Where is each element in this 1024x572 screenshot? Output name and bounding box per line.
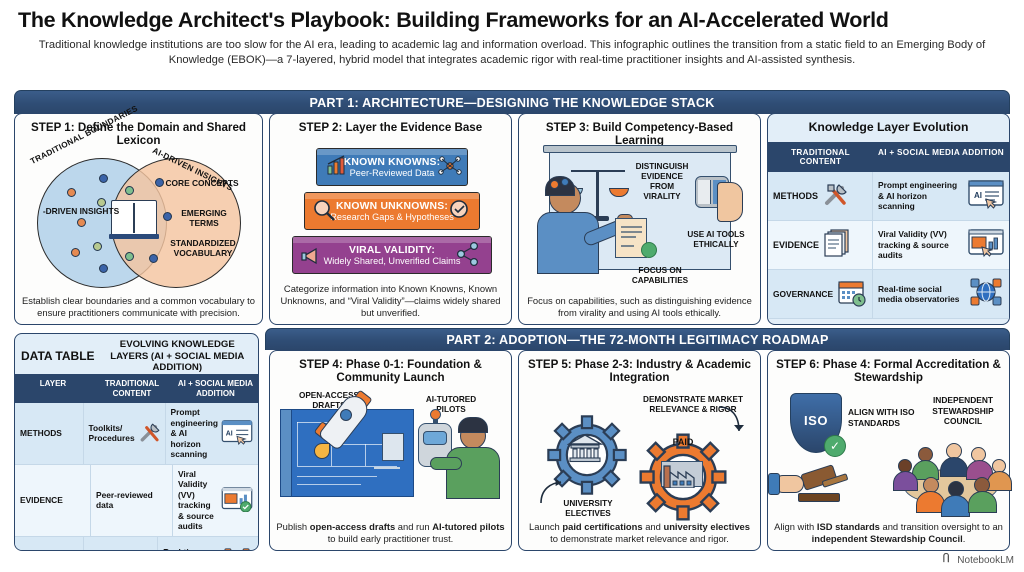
venn-text-core-concepts: CORE CONCEPTS xyxy=(165,178,239,188)
network-node-icon xyxy=(71,248,80,257)
kle-cell-layer: METHODS xyxy=(768,172,873,220)
part1-header: PART 1: ARCHITECTURE—DESIGNING THE KNOWL… xyxy=(14,90,1010,114)
panel-step-6: STEP 6: Phase 4: Formal Accreditation & … xyxy=(767,350,1010,551)
step-4-caption: Publish open-access drafts and run AI-tu… xyxy=(276,521,505,545)
step-4-label-ai-tutored-pilots: AI-TUTORED PILOTS xyxy=(410,395,492,415)
page-title: The Knowledge Architect's Playbook: Buil… xyxy=(18,8,1006,33)
dt-cell-traditional: Periodic reviews xyxy=(84,537,158,552)
dt-cell-layer: EVIDENCE xyxy=(15,465,91,536)
caption-part: . xyxy=(963,533,966,544)
caption-part-bold: open-access drafts xyxy=(310,521,395,532)
council-member-body xyxy=(940,457,968,477)
kle-title: Knowledge Layer Evolution xyxy=(768,120,1009,134)
notebooklm-icon xyxy=(942,553,953,567)
browser-ai-cursor-icon: AI xyxy=(221,419,253,448)
robot-antenna-ball-icon xyxy=(430,409,441,420)
kle-cell-ai: Viral Validity (VV) tracking & source au… xyxy=(873,221,1009,269)
layer-desc: Widely Shared, Unverified Claims xyxy=(324,256,461,266)
wrench-screwdriver-icon xyxy=(138,419,164,448)
book-base-icon xyxy=(109,234,159,239)
council-member-body xyxy=(893,471,918,491)
check-badge-icon: ✓ xyxy=(824,435,846,457)
data-table-header-row: LAYER TRADITIONAL CONTENT AI + SOCIAL ME… xyxy=(15,374,258,403)
share-icon xyxy=(456,242,480,266)
step-6-caption: Align with ISD standards and transition … xyxy=(774,521,1003,545)
calendar-clock-icon xyxy=(837,277,867,312)
caption-part: to build early practitioner trust. xyxy=(328,533,454,544)
gavel-base-icon xyxy=(798,493,840,502)
data-table-heading: DATA TABLE EVOLVING KNOWLEDGE LAYERS (AI… xyxy=(15,339,258,374)
step-4-title: STEP 4: Phase 0-1: Foundation & Communit… xyxy=(277,358,504,385)
kle-cell-layer: GOVERNANCE xyxy=(768,270,873,318)
dt-ai-text: Real-time social media observatories xyxy=(163,547,218,551)
kle-layer-label: GOVERNANCE xyxy=(773,289,833,299)
wrench-screwdriver-icon xyxy=(822,179,852,214)
documents-stack-icon xyxy=(823,228,853,263)
panel-step-4: STEP 4: Phase 0-1: Foundation & Communit… xyxy=(269,350,512,551)
step-6-label-stewardship-council: INDEPENDENT STEWARDSHIP COUNCIL xyxy=(920,395,1006,427)
caption-part: and transition oversight to an xyxy=(880,521,1003,532)
data-table: LAYER TRADITIONAL CONTENT AI + SOCIAL ME… xyxy=(15,374,258,551)
kle-ai-text: Prompt engineering & AI horizon scanning xyxy=(878,180,964,212)
dt-cell-layer: GOVERNANCE xyxy=(15,537,84,552)
dt-cell-traditional: Peer-reviewed data xyxy=(91,465,173,536)
dt-cell-ai: Viral Validity (VV) tracking & source au… xyxy=(173,465,258,536)
dt-header-traditional: TRADITIONAL CONTENT xyxy=(91,374,173,403)
practitioner-arm xyxy=(430,457,462,470)
rocket-window-icon xyxy=(340,409,352,421)
step-6-title: STEP 6: Phase 4: Formal Accreditation & … xyxy=(775,358,1002,385)
caption-part: Publish xyxy=(276,521,309,532)
panel-step-2: STEP 2: Layer the Evidence Base KNOWN KN… xyxy=(269,113,512,325)
step-2-caption: Categorize information into Known Knowns… xyxy=(276,283,505,319)
council-member-body xyxy=(968,491,997,513)
dt-header-ai: AI + SOCIAL MEDIA ADDITION xyxy=(173,374,258,403)
bar-chart-icon xyxy=(326,154,348,176)
calendar-icon xyxy=(126,548,152,551)
sleeve-icon xyxy=(768,473,780,495)
caption-part: and xyxy=(643,521,664,532)
caption-part: Launch xyxy=(529,521,562,532)
layer-desc: Research Gaps & Hypotheses xyxy=(330,212,454,222)
step-3-label-use-ai-ethically: USE AI TOOLS ETHICALLY xyxy=(677,230,755,250)
table-row: GOVERNANCE Periodic reviews Real-time so… xyxy=(15,537,258,552)
data-table-title: EVOLVING KNOWLEDGE LAYERS (AI + SOCIAL M… xyxy=(103,339,252,374)
globe-social-icon xyxy=(968,277,1004,312)
gear-icon xyxy=(561,178,569,186)
venn-diagram: TRADITIONAL BOUNDARIES AI-DRIVEN INSIGHT… xyxy=(15,142,262,290)
caption-part-bold: university electives xyxy=(663,521,750,532)
network-node-icon xyxy=(99,264,108,273)
step-3-label-focus-capabilities: FOCUS ON CAPABILITIES xyxy=(619,266,701,286)
network-node-icon xyxy=(155,178,164,187)
venn-text-emerging-terms: EMERGING TERMS xyxy=(167,208,241,228)
caption-part: Align with xyxy=(774,521,817,532)
magnifier-check-icon xyxy=(448,198,472,222)
panel-step-1: STEP 1: Define the Domain and Shared Lex… xyxy=(14,113,263,325)
kle-ai-text: Viral Validity (VV) tracking & source au… xyxy=(878,229,964,261)
layer-name: KNOWN UNKNOWNS: xyxy=(336,201,448,212)
human-profile-icon xyxy=(717,182,743,222)
step-5-caption: Launch paid certifications and universit… xyxy=(525,521,754,545)
kle-header-row: TRADITIONAL CONTENT AI + SOCIAL MEDIA AD… xyxy=(768,142,1009,172)
kle-header-ai: AI + SOCIAL MEDIA ADDITION xyxy=(873,142,1009,172)
panel-data-table: DATA TABLE EVOLVING KNOWLEDGE LAYERS (AI… xyxy=(14,333,259,551)
panel-knowledge-layer-evolution: Knowledge Layer Evolution TRADITIONAL CO… xyxy=(767,113,1010,325)
layer-desc: Peer-Reviewed Data xyxy=(350,168,435,178)
kle-ai-text: Real-time social media observatories xyxy=(878,284,964,305)
svg-text:AI: AI xyxy=(974,191,982,200)
step-2-title: STEP 2: Layer the Evidence Base xyxy=(277,121,504,134)
step-3-title: STEP 3: Build Competency-Based Learning xyxy=(526,121,753,148)
kle-layer-label: METHODS xyxy=(773,191,818,201)
dt-cell-ai: Real-time social media observatories xyxy=(158,537,258,552)
step-3-caption: Focus on capabilities, such as distingui… xyxy=(525,295,754,319)
blueprint-arrow-icon xyxy=(374,467,400,469)
page-subtitle: Traditional knowledge institutions are t… xyxy=(18,38,1006,68)
kle-row-governance: GOVERNANCE Real-time social media observ… xyxy=(768,270,1009,319)
practitioner-body xyxy=(446,447,500,499)
part2-header: PART 2: ADOPTION—THE 72-MONTH LEGITIMACY… xyxy=(265,328,1010,350)
step-5-label-paid: PAID xyxy=(659,437,707,447)
council-member-body xyxy=(941,495,970,517)
gear-icon xyxy=(550,180,559,189)
blueprint-roll xyxy=(280,409,292,497)
university-bank-icon xyxy=(567,433,603,463)
step-3-label-distinguish: DISTINGUISH EVIDENCE FROM VIRALITY xyxy=(631,162,693,202)
dashboard-check-icon xyxy=(221,486,253,515)
panel-step-3: STEP 3: Build Competency-Based Learning … xyxy=(518,113,761,325)
kle-cell-layer: EVIDENCE xyxy=(768,221,873,269)
svg-text:AI: AI xyxy=(226,430,233,437)
dt-ai-text: Viral Validity (VV) tracking & source au… xyxy=(178,469,218,532)
globe-social-icon xyxy=(221,548,253,551)
step-5-title: STEP 5: Phase 2-3: Industry & Academic I… xyxy=(526,358,753,385)
document-icon xyxy=(382,433,404,461)
step-6-label-align-iso: ALIGN WITH ISO STANDARDS xyxy=(848,407,922,428)
dt-cell-ai: Prompt engineering & AI horizon scanning… xyxy=(166,403,258,464)
kle-row-methods: METHODS Prompt engineering & AI horizon … xyxy=(768,172,1009,221)
network-node-icon xyxy=(67,188,76,197)
dt-header-layer: LAYER xyxy=(15,374,91,403)
curved-arrow-icon xyxy=(715,405,745,437)
dt-cell-layer: METHODS xyxy=(15,403,84,464)
kle-cell-ai: Prompt engineering & AI horizon scanning… xyxy=(873,172,1009,220)
venn-text-standardized-vocabulary: STANDARDIZED VOCABULARY xyxy=(157,238,249,258)
seal-check-icon xyxy=(641,242,657,258)
caption-part-bold: paid certifications xyxy=(562,521,642,532)
kle-cell-ai: Real-time social media observatories xyxy=(873,270,1009,318)
table-row: METHODS Toolkits/ Procedures Prompt engi… xyxy=(15,403,258,465)
venn-text-driven-insights: -DRIVEN INSIGHTS xyxy=(41,206,121,216)
rocket-flame-icon xyxy=(314,443,330,459)
table-row: EVIDENCE Peer-reviewed data Viral Validi… xyxy=(15,465,258,537)
dt-cell-traditional: Toolkits/ Procedures xyxy=(84,403,166,464)
network-node-icon xyxy=(125,252,134,261)
curved-arrow-icon xyxy=(537,477,567,507)
step-1-caption: Establish clear boundaries and a common … xyxy=(21,295,256,319)
network-hub-icon xyxy=(438,154,462,178)
watermark-text: NotebookLM xyxy=(957,555,1014,566)
kle-row-evidence: EVIDENCE Viral Validity (VV) tracking & … xyxy=(768,221,1009,270)
infographic-root: The Knowledge Architect's Playbook: Buil… xyxy=(0,0,1024,572)
factory-icon xyxy=(661,461,703,487)
layer-name: KNOWN KNOWNS: xyxy=(344,157,441,168)
layer-name: VIRAL VALIDITY: xyxy=(349,245,435,256)
kle-table: TRADITIONAL CONTENT AI + SOCIAL MEDIA AD… xyxy=(768,142,1009,319)
caption-part-bold: ISD standards xyxy=(817,521,880,532)
robot-face-icon xyxy=(423,431,447,445)
dt-traditional-text: Toolkits/ Procedures xyxy=(89,423,135,444)
iso-badge-label: ISO xyxy=(790,413,842,428)
dashboard-cursor-icon xyxy=(968,228,1004,263)
caption-part-bold: independent Stewardship Council xyxy=(812,533,963,544)
practitioner-hair xyxy=(458,417,488,433)
kle-layer-label: EVIDENCE xyxy=(773,240,819,250)
council-member-body xyxy=(987,471,1012,491)
caption-part: and run xyxy=(395,521,432,532)
magnifier-icon xyxy=(312,198,336,222)
megaphone-icon xyxy=(300,242,326,268)
network-node-icon xyxy=(125,186,134,195)
scale-beam-icon xyxy=(571,170,625,172)
caption-part-bold: AI-tutored pilots xyxy=(432,521,504,532)
network-node-icon xyxy=(77,218,86,227)
panel-step-5: STEP 5: Phase 2-3: Industry & Academic I… xyxy=(518,350,761,551)
scale-post-icon xyxy=(596,170,599,218)
data-table-label: DATA TABLE xyxy=(21,349,95,363)
network-node-icon xyxy=(93,242,102,251)
watermark: NotebookLM xyxy=(942,553,1014,567)
caption-part: to demonstrate market relevance and rigo… xyxy=(550,533,729,544)
browser-ai-cursor-icon: AI xyxy=(968,179,1004,214)
network-node-icon xyxy=(99,174,108,183)
dt-ai-text: Prompt engineering & AI horizon scanning xyxy=(171,407,218,460)
kle-header-traditional: TRADITIONAL CONTENT xyxy=(768,142,873,172)
